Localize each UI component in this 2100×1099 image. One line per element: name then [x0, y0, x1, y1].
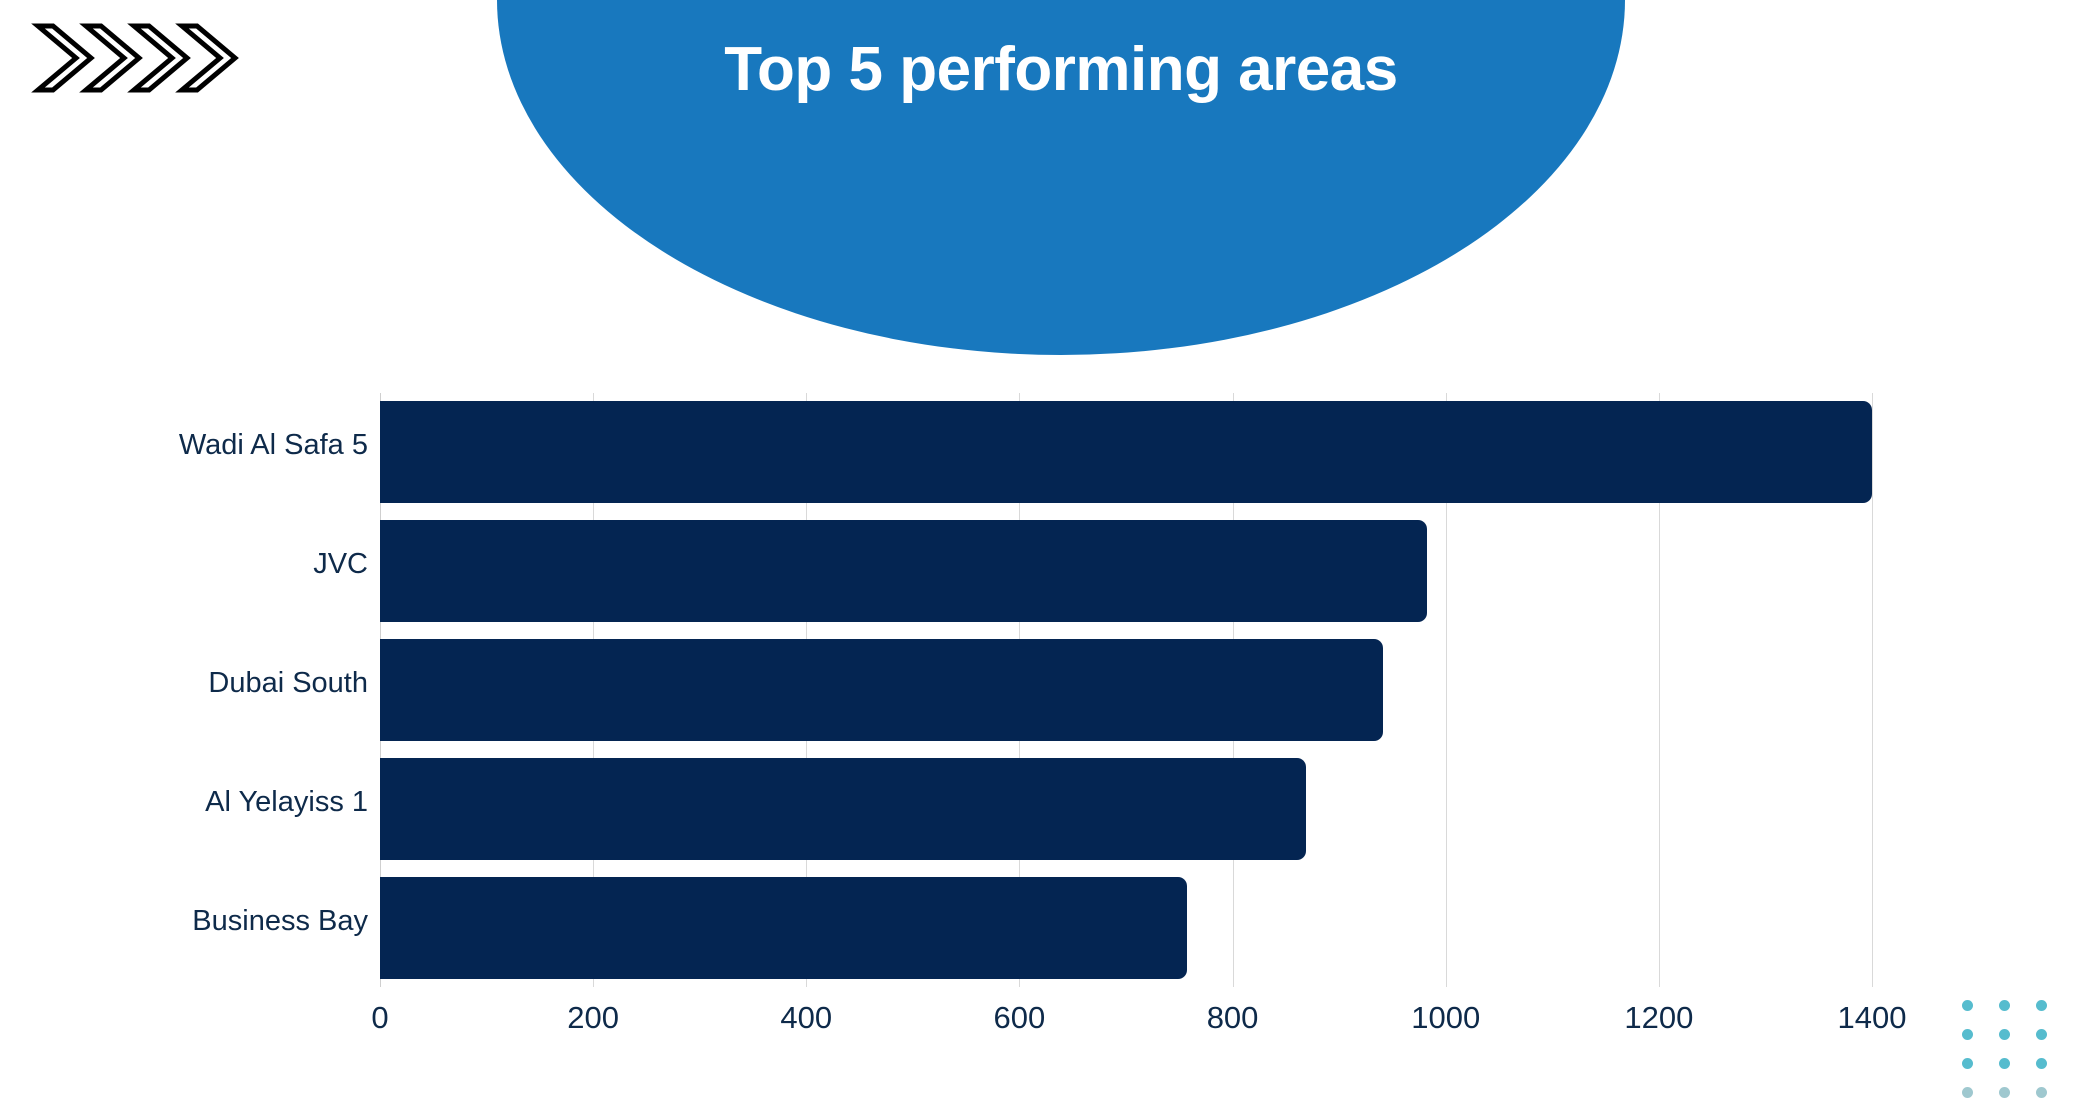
x-tick-label: 1000: [1411, 1000, 1480, 1036]
dot-grid-decoration: [1962, 1000, 2073, 1099]
bar-jvc[interactable]: [380, 520, 1427, 622]
dot: [2036, 1058, 2047, 1069]
dot: [1962, 1087, 1973, 1098]
category-label: Business Bay: [0, 905, 368, 938]
x-tick-label: 1200: [1624, 1000, 1693, 1036]
bar-dubai-south[interactable]: [380, 639, 1383, 741]
bar-chart: Wadi Al Safa 5JVCDubai SouthAl Yelayiss …: [0, 0, 2100, 1099]
dot: [2036, 1029, 2047, 1040]
dot: [2036, 1087, 2047, 1098]
dot: [1962, 1029, 1973, 1040]
dot: [1999, 1029, 2010, 1040]
bar-row: Dubai South: [380, 631, 1872, 750]
category-label: Dubai South: [0, 667, 368, 700]
bar-business-bay[interactable]: [380, 877, 1187, 979]
bar-row: Wadi Al Safa 5: [380, 393, 1872, 512]
dot: [1962, 1000, 1973, 1011]
gridline: [1872, 393, 1873, 987]
plot-area: Wadi Al Safa 5JVCDubai SouthAl Yelayiss …: [380, 393, 1872, 987]
dot: [2036, 1000, 2047, 1011]
dot: [1999, 1087, 2010, 1098]
bar-al-yelayiss-1[interactable]: [380, 758, 1306, 860]
dot: [1999, 1058, 2010, 1069]
bar-row: Business Bay: [380, 869, 1872, 988]
dot: [1999, 1000, 2010, 1011]
category-label: Wadi Al Safa 5: [0, 429, 368, 462]
x-tick-label: 400: [780, 1000, 832, 1036]
bar-wadi-al-safa-5[interactable]: [380, 401, 1872, 503]
category-label: JVC: [0, 548, 368, 581]
dot: [1962, 1058, 1973, 1069]
bar-row: Al Yelayiss 1: [380, 750, 1872, 869]
x-tick-label: 600: [994, 1000, 1046, 1036]
x-tick-label: 0: [371, 1000, 388, 1036]
category-label: Al Yelayiss 1: [0, 786, 368, 819]
x-tick-label: 1400: [1838, 1000, 1907, 1036]
x-tick-label: 800: [1207, 1000, 1259, 1036]
slide-canvas: Top 5 performing areas Wadi Al Safa 5JVC…: [0, 0, 2100, 1099]
bar-row: JVC: [380, 512, 1872, 631]
x-tick-label: 200: [567, 1000, 619, 1036]
